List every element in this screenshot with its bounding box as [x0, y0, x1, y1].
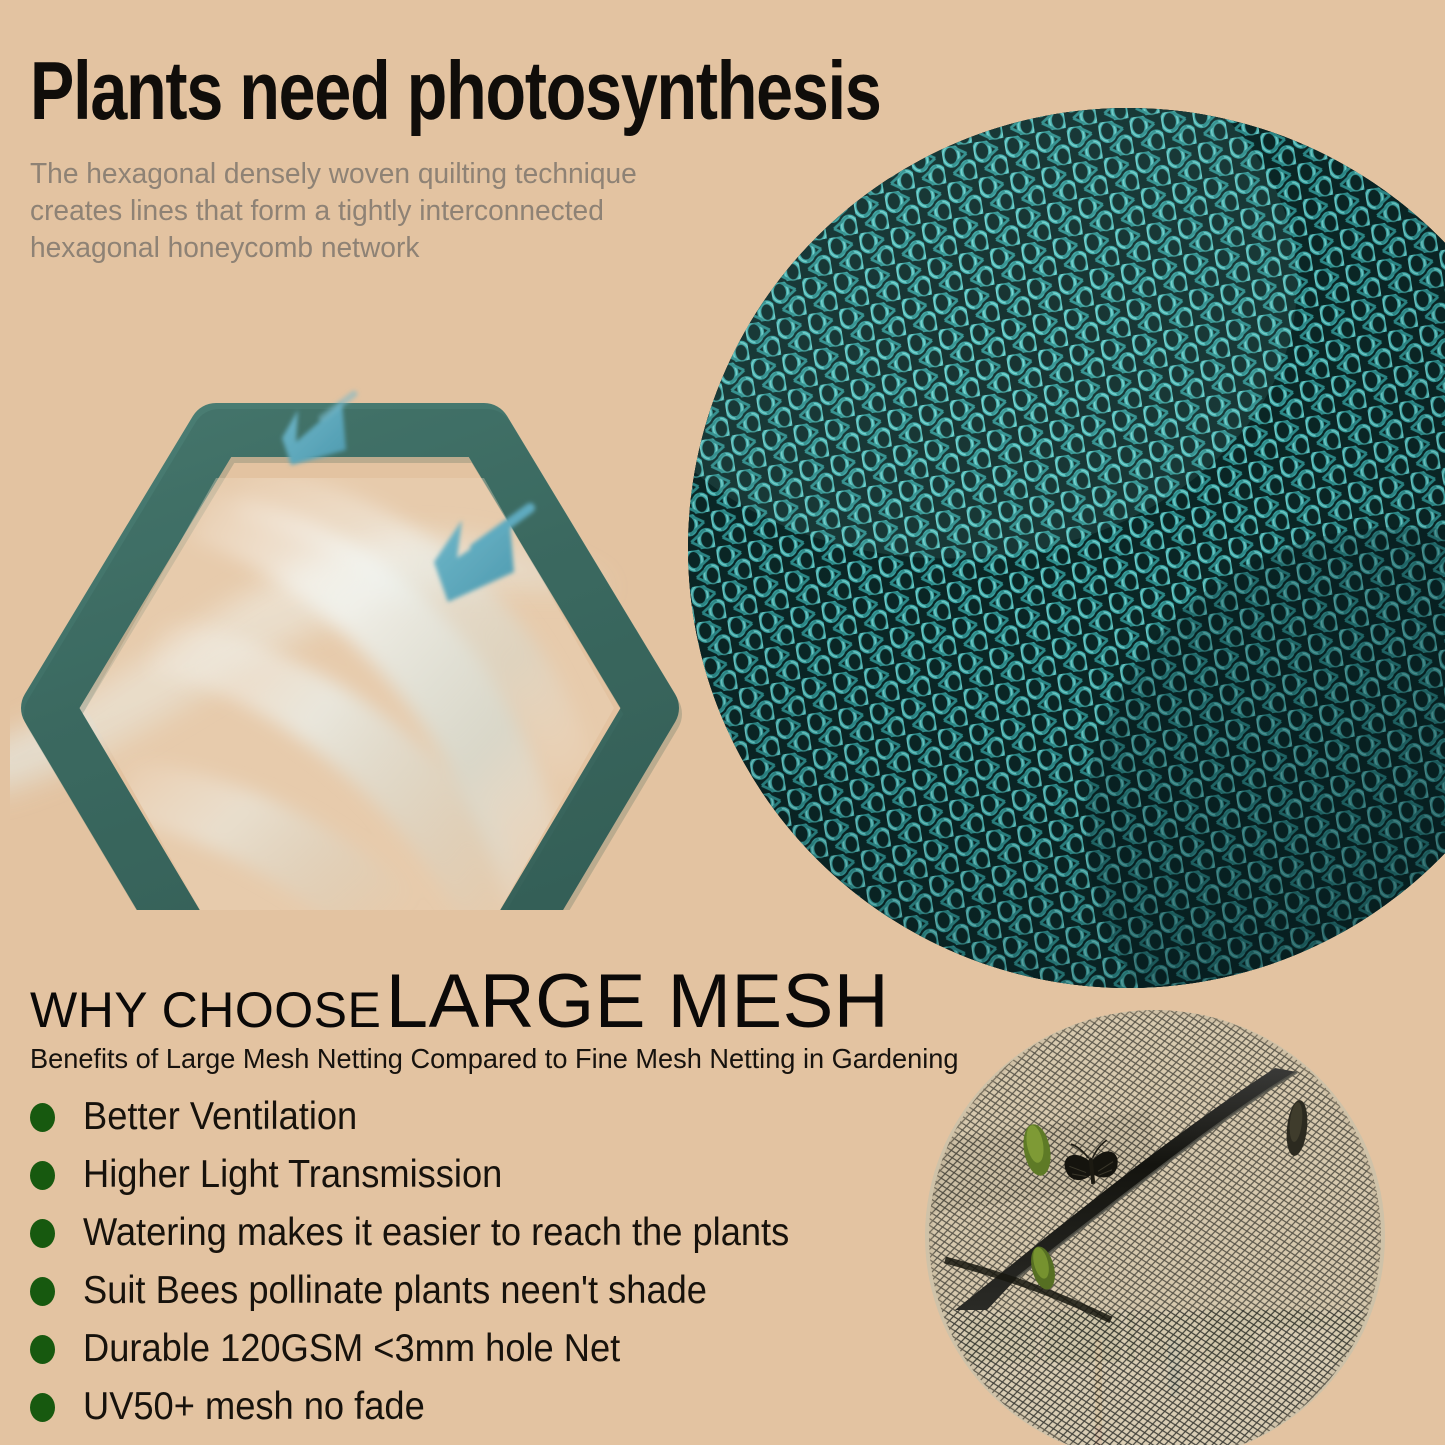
bullet-dot-icon	[30, 1393, 55, 1422]
list-item: Watering makes it easier to reach the pl…	[28, 1204, 858, 1262]
fine-mesh-netting-photo	[925, 1010, 1385, 1445]
benefits-list: Better Ventilation Higher Light Transmis…	[28, 1088, 858, 1436]
bullet-dot-icon	[30, 1277, 55, 1306]
list-item: Better Ventilation	[28, 1088, 858, 1146]
large-mesh-fabric-photo	[688, 108, 1445, 988]
hexagon-airflow-illustration	[10, 290, 690, 910]
page-title: Plants need photosynthesis	[30, 52, 750, 131]
section-subheading: Benefits of Large Mesh Netting Compared …	[30, 1043, 958, 1075]
section-heading-large: LARGE MESH	[386, 959, 889, 1044]
list-item-label: UV50+ mesh no fade	[83, 1385, 425, 1429]
bullet-dot-icon	[30, 1219, 55, 1248]
bullet-dot-icon	[30, 1103, 55, 1132]
section-heading: WHY CHOOSE LARGE MESH	[30, 958, 889, 1045]
list-item-label: Suit Bees pollinate plants neen't shade	[83, 1269, 707, 1313]
bullet-dot-icon	[30, 1161, 55, 1190]
list-item: Durable 120GSM <3mm hole Net	[28, 1320, 858, 1378]
list-item-label: Durable 120GSM <3mm hole Net	[83, 1327, 620, 1371]
bullet-dot-icon	[30, 1335, 55, 1364]
list-item-label: Higher Light Transmission	[83, 1153, 502, 1197]
list-item-label: Watering makes it easier to reach the pl…	[83, 1211, 789, 1255]
list-item: Higher Light Transmission	[28, 1146, 858, 1204]
list-item: Suit Bees pollinate plants neen't shade	[28, 1262, 858, 1320]
list-item-label: Better Ventilation	[83, 1095, 357, 1139]
page-subtitle: The hexagonal densely woven quilting tec…	[30, 156, 728, 266]
section-heading-small: WHY CHOOSE	[30, 982, 381, 1038]
list-item: UV50+ mesh no fade	[28, 1378, 858, 1436]
infographic-canvas: Plants need photosynthesis The hexagonal…	[0, 0, 1445, 1445]
